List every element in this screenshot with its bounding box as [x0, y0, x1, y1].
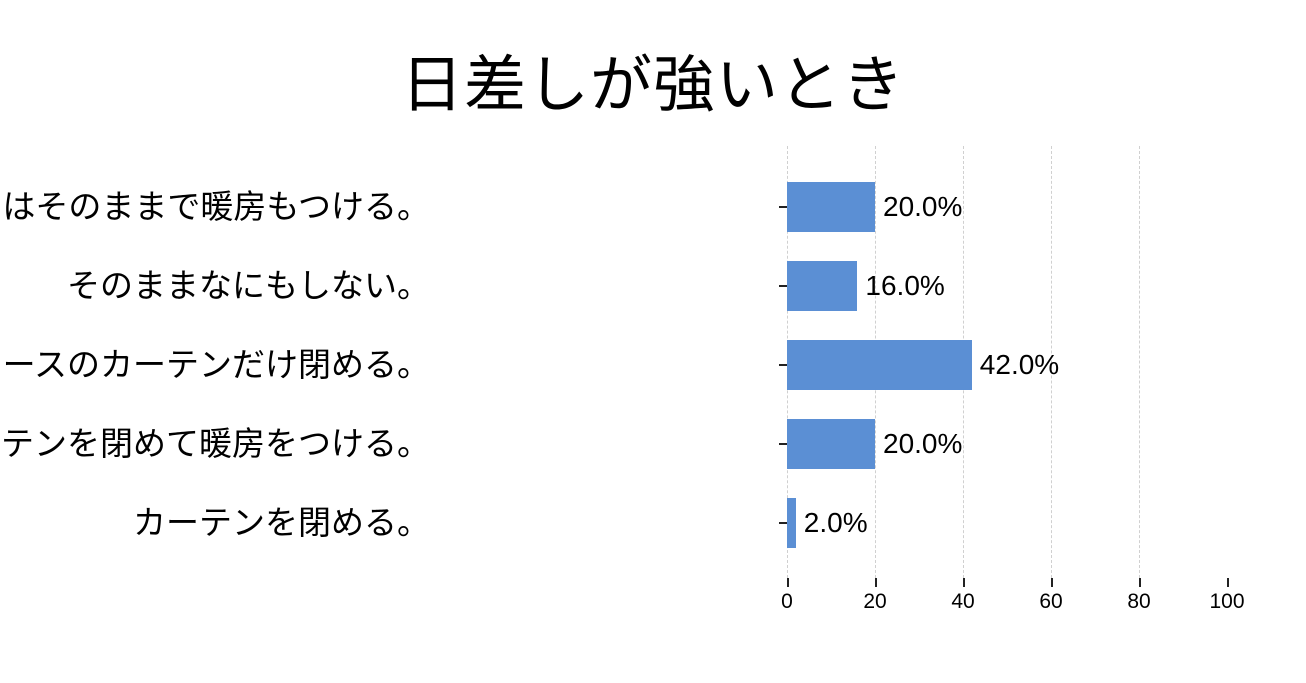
- bar-row: カーテンを閉める。 2.0%: [787, 484, 1227, 563]
- category-label: そのままなにもしない。: [0, 266, 440, 306]
- category-label: カーテンを閉める。: [0, 503, 440, 543]
- page-title: 日差しが強いとき: [0, 48, 1306, 124]
- bar-row: レースのカーテンだけ閉める。 42.0%: [787, 325, 1227, 404]
- x-axis: 0 20 40 60 80 100: [787, 578, 1227, 624]
- x-axis-tick: [787, 578, 789, 587]
- bar-row: カーテンはそのままで暖房もつける。 20.0%: [787, 167, 1227, 246]
- bar[interactable]: [787, 182, 875, 232]
- x-axis-tick: [875, 578, 877, 587]
- bar[interactable]: [787, 340, 972, 390]
- x-axis-tick-label: 100: [1209, 590, 1244, 614]
- bar-value-label: 2.0%: [796, 509, 868, 537]
- y-axis-tick: [779, 522, 787, 524]
- plot-area: カーテンはそのままで暖房もつける。 20.0% そのままなにもしない。 16.0…: [787, 146, 1227, 578]
- bar-value-label: 42.0%: [972, 351, 1059, 379]
- bar[interactable]: [787, 419, 875, 469]
- bar-value-label: 20.0%: [875, 193, 962, 221]
- bar-row: カーテンを閉めて暖房をつける。 20.0%: [787, 405, 1227, 484]
- y-axis-tick: [779, 364, 787, 366]
- y-axis-tick: [779, 206, 787, 208]
- x-axis-tick-label: 20: [863, 590, 886, 614]
- x-axis-tick-label: 60: [1039, 590, 1062, 614]
- category-label: カーテンを閉めて暖房をつける。: [0, 424, 440, 464]
- chart-figure: 日差しが強いとき カーテンはそのままで暖房もつける。 20.0% そのままなにも…: [0, 0, 1306, 683]
- x-axis-tick: [1227, 578, 1229, 587]
- y-axis-tick: [779, 285, 787, 287]
- bar[interactable]: [787, 261, 857, 311]
- x-axis-tick-label: 80: [1127, 590, 1150, 614]
- bar[interactable]: [787, 498, 796, 548]
- x-axis-tick: [1051, 578, 1053, 587]
- bar-value-label: 16.0%: [857, 272, 944, 300]
- x-axis-tick: [963, 578, 965, 587]
- category-label: カーテンはそのままで暖房もつける。: [0, 187, 440, 227]
- bar-row: そのままなにもしない。 16.0%: [787, 246, 1227, 325]
- x-axis-tick-label: 0: [781, 590, 793, 614]
- y-axis-tick: [779, 443, 787, 445]
- x-axis-tick-label: 40: [951, 590, 974, 614]
- x-axis-tick: [1139, 578, 1141, 587]
- bar-value-label: 20.0%: [875, 430, 962, 458]
- category-label: レースのカーテンだけ閉める。: [0, 345, 440, 385]
